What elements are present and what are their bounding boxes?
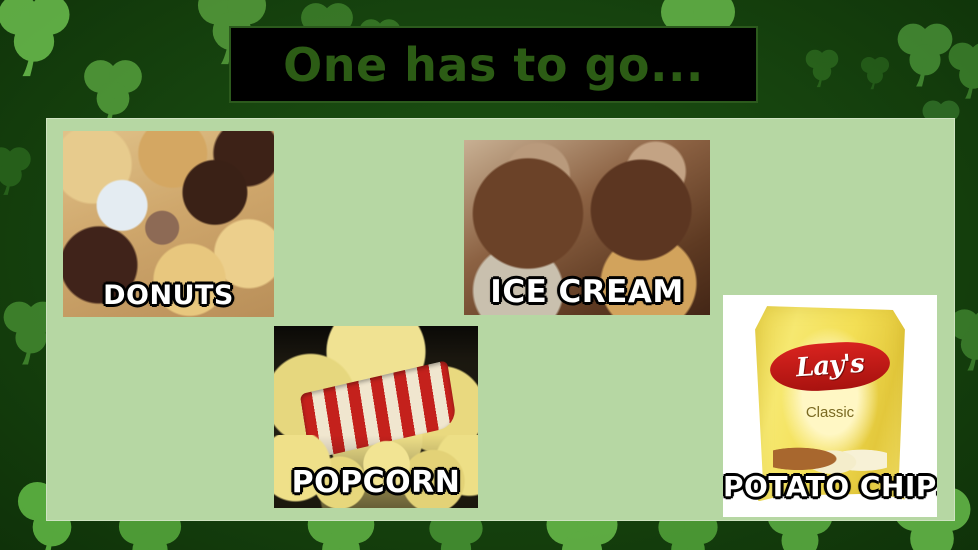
shamrock-icon bbox=[74, 50, 152, 128]
shamrock-icon bbox=[888, 14, 962, 88]
donuts-label: DONUTS bbox=[63, 280, 274, 311]
shamrock-icon bbox=[800, 44, 844, 88]
shamrock-icon bbox=[940, 34, 978, 100]
shamrock-icon bbox=[856, 52, 894, 90]
food-option-potato-chips[interactable]: Lay's Classic POTATO CHIPS bbox=[723, 295, 937, 517]
content-panel: DONUTS ICE CREAM POPCORN Lay's Classic bbox=[46, 118, 955, 521]
ice-cream-label: ICE CREAM bbox=[464, 274, 710, 310]
shamrock-icon bbox=[0, 0, 82, 78]
food-option-ice-cream[interactable]: ICE CREAM bbox=[464, 140, 710, 315]
lays-brand-text: Lay's bbox=[795, 349, 865, 384]
shamrock-icon bbox=[0, 140, 38, 196]
food-option-popcorn[interactable]: POPCORN bbox=[274, 326, 478, 508]
lays-variety-text: Classic bbox=[755, 404, 905, 421]
page-title: One has to go... bbox=[283, 42, 704, 88]
food-option-donuts[interactable]: DONUTS bbox=[63, 131, 274, 317]
slide-canvas: One has to go... DONUTS ICE CREAM POPCOR… bbox=[0, 0, 978, 550]
popcorn-label: POPCORN bbox=[274, 465, 478, 500]
potato-chips-label: POTATO CHIPS bbox=[723, 470, 937, 503]
title-banner: One has to go... bbox=[229, 26, 758, 103]
lays-logo: Lay's bbox=[769, 339, 892, 394]
